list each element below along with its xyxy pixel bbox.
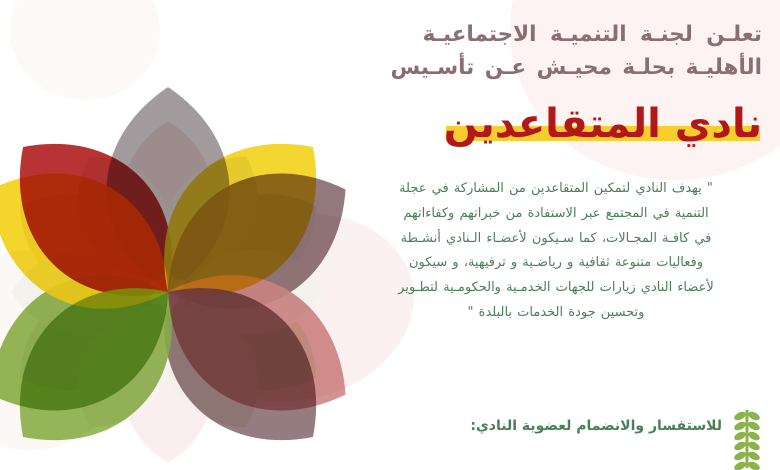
body-line-4: وفعاليات متنوعة ثقافية و رياضـية و ترفيه… bbox=[350, 251, 762, 276]
body-paragraph: " يهدف النادي لتمكين المتقاعدين من المشا… bbox=[350, 177, 762, 327]
contact-heading: للاستفسار والانضمام لعضوية النادي: bbox=[350, 416, 722, 437]
content-column: تعلـن لجنـة التنميـة الاجتماعيـة الأهليـ… bbox=[350, 0, 780, 470]
contact-sub-line bbox=[350, 449, 722, 457]
header-line-2: الأهليـة بحلـة محيـش عـن تأسـيس bbox=[350, 51, 762, 84]
poster-title: نادي المتقاعدين bbox=[444, 101, 762, 147]
body-line-6: وتحسين جودة الخدمات بالبلدة " bbox=[350, 301, 762, 326]
header-block: تعلـن لجنـة التنميـة الاجتماعيـة الأهليـ… bbox=[350, 18, 762, 85]
contact-lines: للاستفسار والانضمام لعضوية النادي: bbox=[350, 406, 722, 457]
body-line-2: التنمية في المجتمع عبر الاستفادة من خبرا… bbox=[350, 202, 762, 227]
body-line-5: لأعضاء النادي زيارات للجهات الخدمـية وال… bbox=[350, 276, 762, 301]
contact-block: للاستفسار والانضمام لعضوية النادي: bbox=[350, 406, 762, 470]
wheat-icon bbox=[732, 408, 762, 470]
body-line-3: في كافـة المجـالات، كما سـيكون لأعضـاء ا… bbox=[350, 227, 762, 252]
title-text: نادي المتقاعدين bbox=[444, 101, 762, 147]
poster-canvas: تعلـن لجنـة التنميـة الاجتماعيـة الأهليـ… bbox=[0, 0, 780, 470]
flower-logo bbox=[0, 70, 370, 470]
header-line-1: تعلـن لجنـة التنميـة الاجتماعيـة bbox=[350, 18, 762, 51]
body-line-1: " يهدف النادي لتمكين المتقاعدين من المشا… bbox=[350, 177, 762, 202]
